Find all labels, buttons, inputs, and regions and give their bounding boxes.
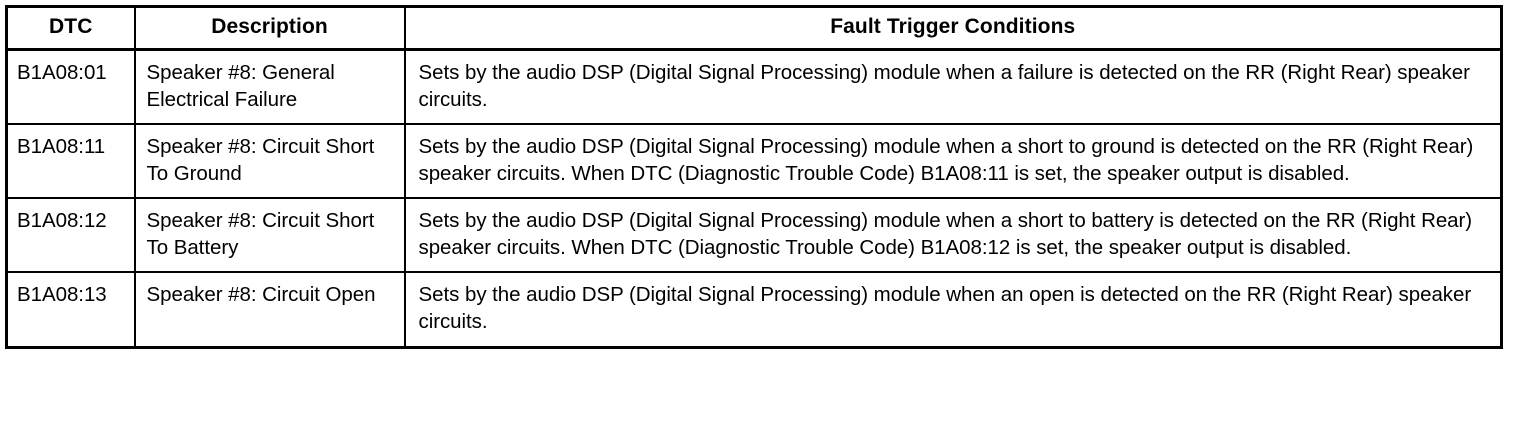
cell-conditions: Sets by the audio DSP (Digital Signal Pr…	[405, 198, 1502, 272]
header-row: DTC Description Fault Trigger Conditions	[7, 7, 1502, 50]
column-header-fault-trigger-conditions: Fault Trigger Conditions	[405, 7, 1502, 50]
table-row: B1A08:13 Speaker #8: Circuit Open Sets b…	[7, 272, 1502, 347]
cell-conditions: Sets by the audio DSP (Digital Signal Pr…	[405, 50, 1502, 125]
table-row: B1A08:12 Speaker #8: Circuit Short To Ba…	[7, 198, 1502, 272]
cell-dtc: B1A08:12	[7, 198, 135, 272]
dtc-fault-table: DTC Description Fault Trigger Conditions…	[5, 5, 1503, 349]
cell-dtc: B1A08:11	[7, 124, 135, 198]
cell-dtc: B1A08:13	[7, 272, 135, 347]
table-row: B1A08:11 Speaker #8: Circuit Short To Gr…	[7, 124, 1502, 198]
cell-conditions: Sets by the audio DSP (Digital Signal Pr…	[405, 124, 1502, 198]
cell-dtc: B1A08:01	[7, 50, 135, 125]
cell-conditions: Sets by the audio DSP (Digital Signal Pr…	[405, 272, 1502, 347]
cell-description: Speaker #8: Circuit Short To Ground	[135, 124, 405, 198]
cell-description: Speaker #8: General Electrical Failure	[135, 50, 405, 125]
table-body: B1A08:01 Speaker #8: General Electrical …	[7, 50, 1502, 347]
cell-description: Speaker #8: Circuit Open	[135, 272, 405, 347]
column-header-description: Description	[135, 7, 405, 50]
table-header: DTC Description Fault Trigger Conditions	[7, 7, 1502, 50]
table-row: B1A08:01 Speaker #8: General Electrical …	[7, 50, 1502, 125]
column-header-dtc: DTC	[7, 7, 135, 50]
page-root: DTC Description Fault Trigger Conditions…	[0, 0, 1520, 432]
cell-description: Speaker #8: Circuit Short To Battery	[135, 198, 405, 272]
